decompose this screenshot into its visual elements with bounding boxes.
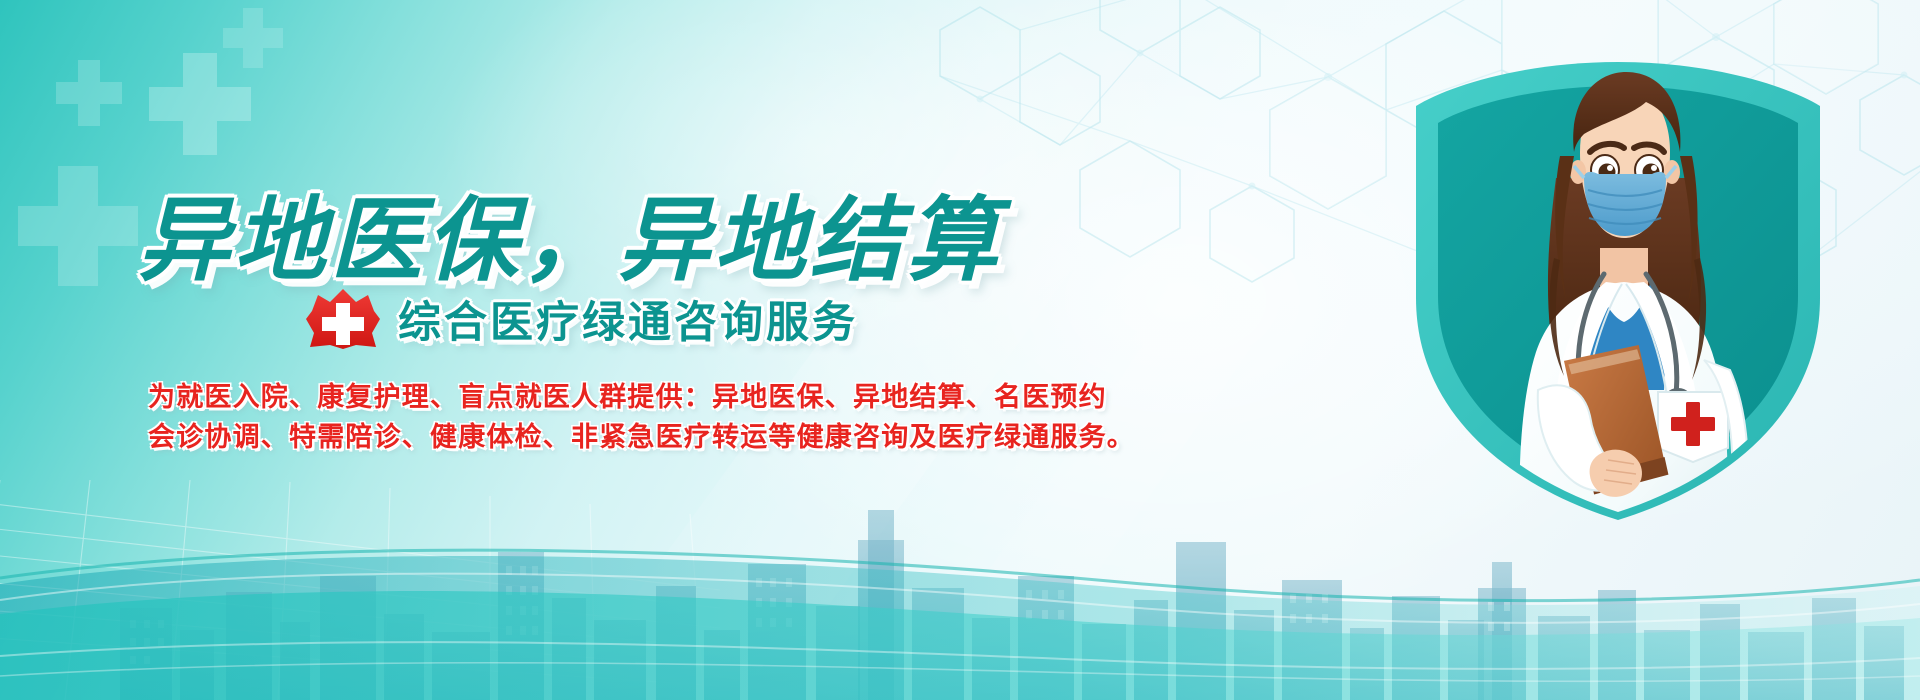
hand: [1590, 450, 1642, 497]
hand-right: [1738, 456, 1770, 493]
teal-shield-icon: [1408, 60, 1828, 520]
description-line-2: 会诊协调、特需陪诊、健康体检、非紧急医疗转运等健康咨询及医疗绿通服务。: [148, 418, 1088, 458]
wave-stroke-d: [0, 663, 1920, 682]
wave-stroke-c: [0, 642, 1920, 669]
red-cross-badge-icon: [306, 289, 380, 349]
description-block: 为就医入院、康复护理、盲点就医人群提供：异地医保、异地结算、名医预约 会诊协调、…: [148, 378, 1088, 458]
description-line-1: 为就医入院、康复护理、盲点就医人群提供：异地医保、异地结算、名医预约: [148, 378, 1088, 418]
subtitle-row: 综合医疗绿通咨询服务: [306, 288, 858, 350]
medical-banner: 异地医保，异地结算 综合医疗绿通咨询服务 为就医入院、康复护理、盲点就医人群提: [0, 0, 1920, 700]
wave-back: [0, 556, 1920, 700]
wave-front: [0, 591, 1920, 700]
page-title: 异地医保，异地结算: [138, 166, 1002, 299]
doctor-shield-graphic: [1408, 60, 1828, 520]
banner-copy: 异地医保，异地结算 综合医疗绿通咨询服务 为就医入院、康复护理、盲点就医人群提: [0, 0, 1230, 560]
wave-stroke-b: [0, 574, 1920, 623]
subtitle: 综合医疗绿通咨询服务: [398, 288, 858, 350]
